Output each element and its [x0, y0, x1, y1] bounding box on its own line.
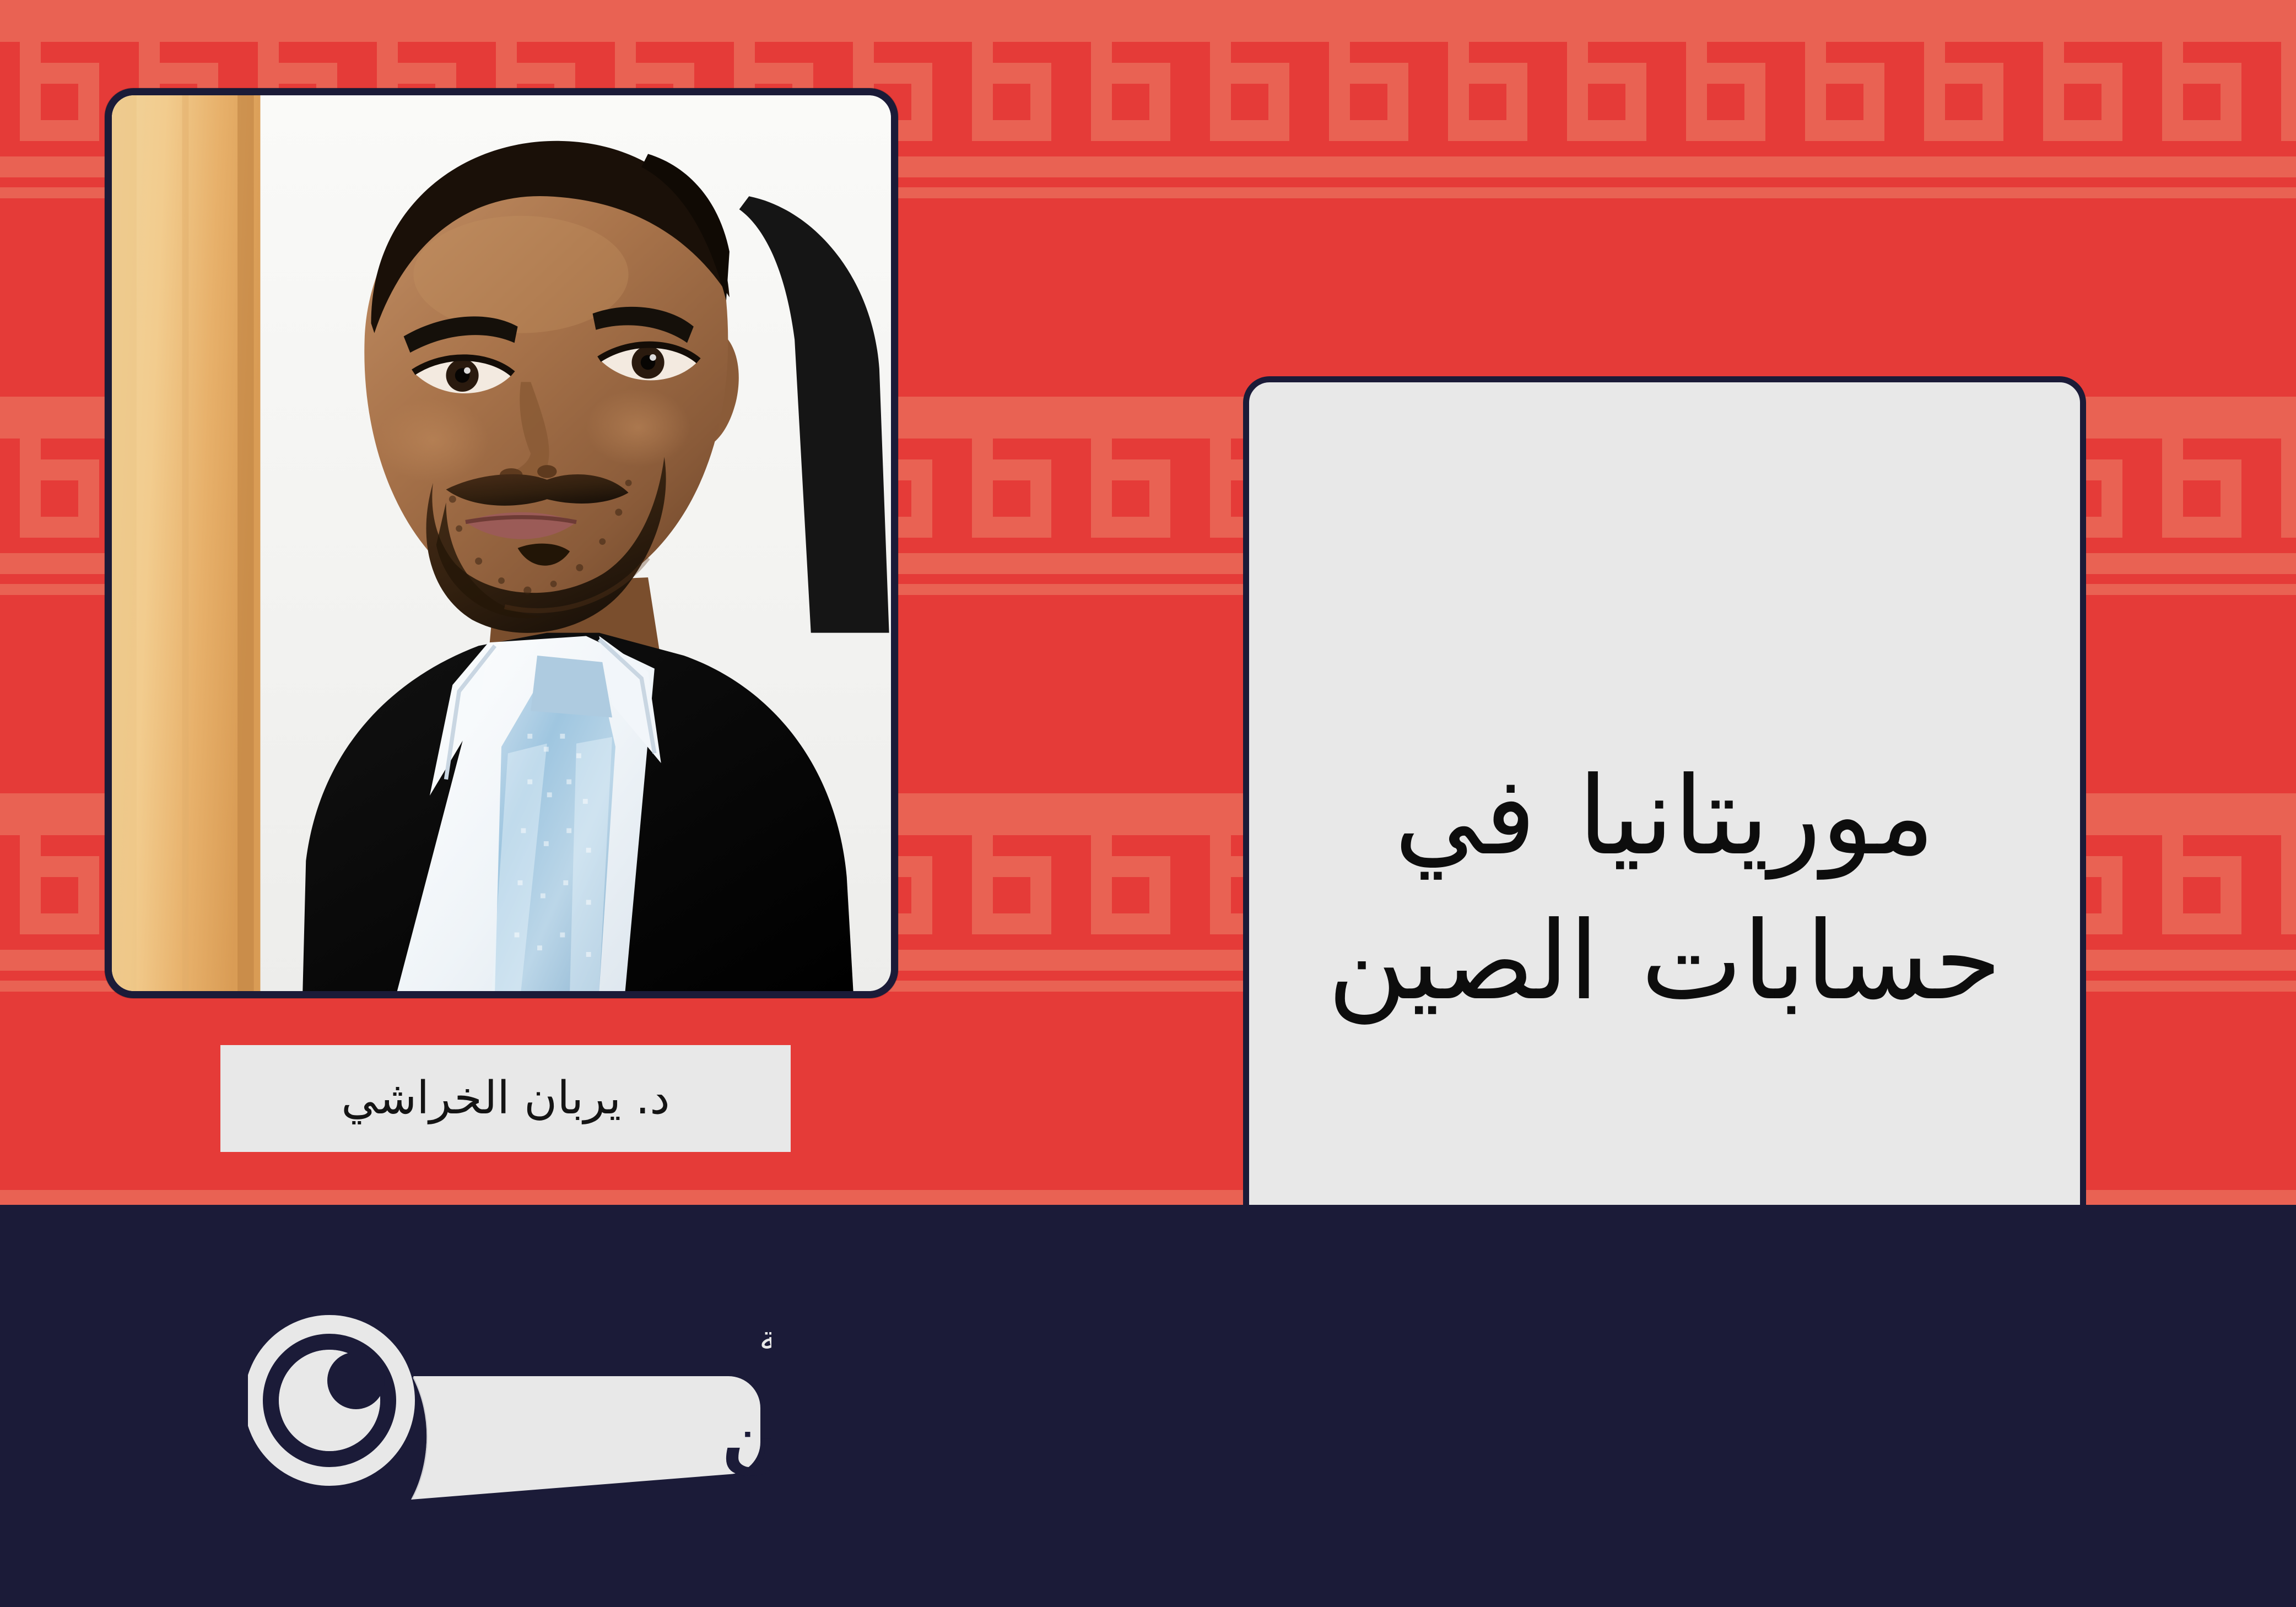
author-name: د. يربان الخراشي — [341, 1076, 670, 1121]
author-name-plate: د. يربان الخراشي — [220, 1045, 791, 1152]
logo-brand-tagline: بعيون عربية — [759, 1318, 771, 1358]
article-cover-canvas: د. يربان الخراشي موريتانيا في حسابات الص… — [0, 0, 2296, 1607]
brand-logo[interactable]: الصين بعيون عربية — [248, 1284, 771, 1515]
logo-tag-shape — [411, 1376, 760, 1500]
author-portrait-frame — [105, 88, 898, 998]
article-headline: موريتانيا في حسابات الصين — [1288, 744, 2041, 1034]
logo-brand-main: الصين — [722, 1394, 771, 1476]
eye-icon — [253, 1324, 406, 1476]
author-portrait-image — [112, 95, 891, 991]
